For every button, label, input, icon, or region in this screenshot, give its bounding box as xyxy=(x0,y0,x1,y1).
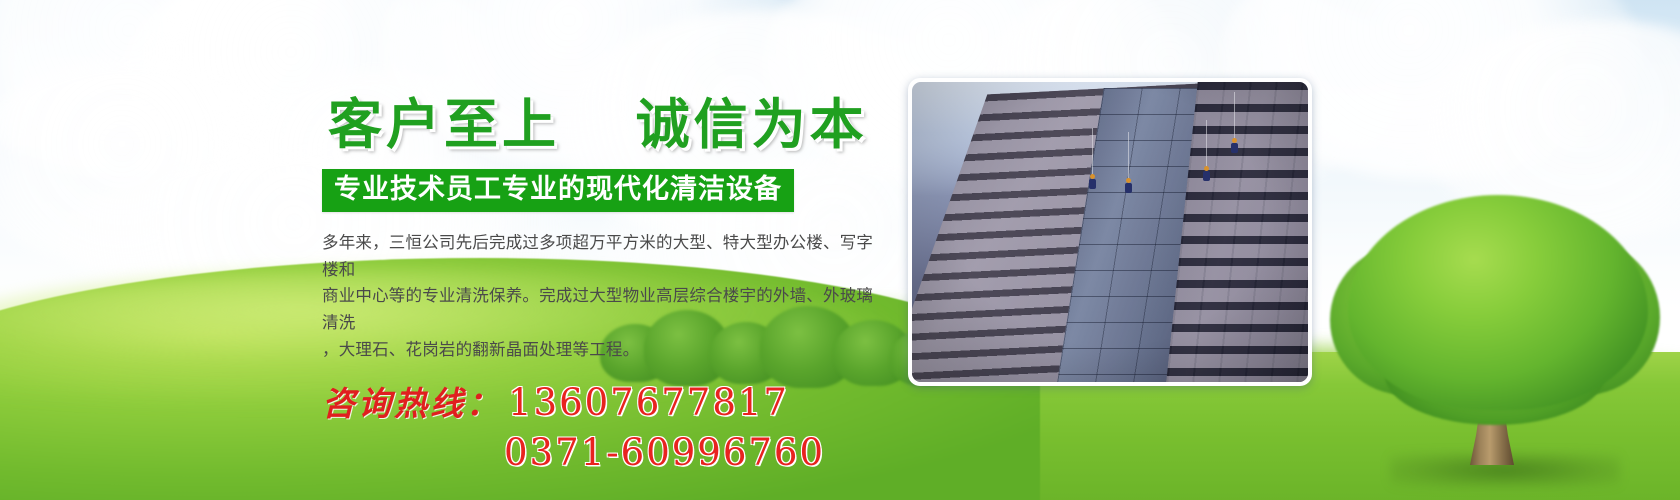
building-photo-frame xyxy=(908,78,1312,386)
hotline-mobile-number[interactable]: 13607677817 xyxy=(508,381,789,425)
hotline-row-mobile: 咨询热线： 13607677817 xyxy=(322,381,902,425)
headline-part-2: 诚信为本 xyxy=(636,92,868,156)
building-photo xyxy=(912,82,1308,382)
banner-text-block: 客户至上 诚信为本 专业技术员工专业的现代化清洁设备 多年来，三恒公司先后完成过… xyxy=(322,96,902,475)
hotline-block: 咨询热线： 13607677817 0371-60996760 xyxy=(322,381,902,474)
hotline-label: 咨询热线： xyxy=(322,385,502,424)
description-line-1: 多年来，三恒公司先后完成过多项超万平方米的大型、特大型办公楼、写字楼和 xyxy=(322,230,887,283)
sky-patch xyxy=(30,0,230,70)
description-line-3: ，大理石、花岗岩的翻新晶面处理等工程。 xyxy=(322,337,887,364)
banner-subheading: 专业技术员工专业的现代化清洁设备 xyxy=(322,169,794,212)
rope-access-worker xyxy=(1124,178,1133,198)
hotline-landline-number[interactable]: 0371-60996760 xyxy=(504,431,825,475)
cloud xyxy=(0,60,320,270)
rope-access-worker xyxy=(1088,174,1097,194)
photo-vignette xyxy=(912,82,1308,382)
headline-part-1: 客户至上 xyxy=(328,92,560,156)
description-line-2: 商业中心等的专业清洗保养。完成过大型物业高层综合楼宇的外墙、外玻璃清洗 xyxy=(322,283,887,336)
banner-headline: 客户至上 诚信为本 xyxy=(322,96,902,153)
sky-patch xyxy=(1180,0,1480,90)
hotline-row-landline: 0371-60996760 xyxy=(322,431,902,475)
banner-description: 多年来，三恒公司先后完成过多项超万平方米的大型、特大型办公楼、写字楼和 商业中心… xyxy=(322,230,887,364)
sky-patch xyxy=(560,0,780,80)
rope-access-worker xyxy=(1202,166,1211,186)
promotional-banner: 客户至上 诚信为本 专业技术员工专业的现代化清洁设备 多年来，三恒公司先后完成过… xyxy=(0,0,1680,500)
tree-canopy xyxy=(1348,195,1648,410)
cloud xyxy=(0,0,360,180)
rope-access-worker xyxy=(1230,138,1239,158)
tree-illustration xyxy=(1330,195,1660,485)
